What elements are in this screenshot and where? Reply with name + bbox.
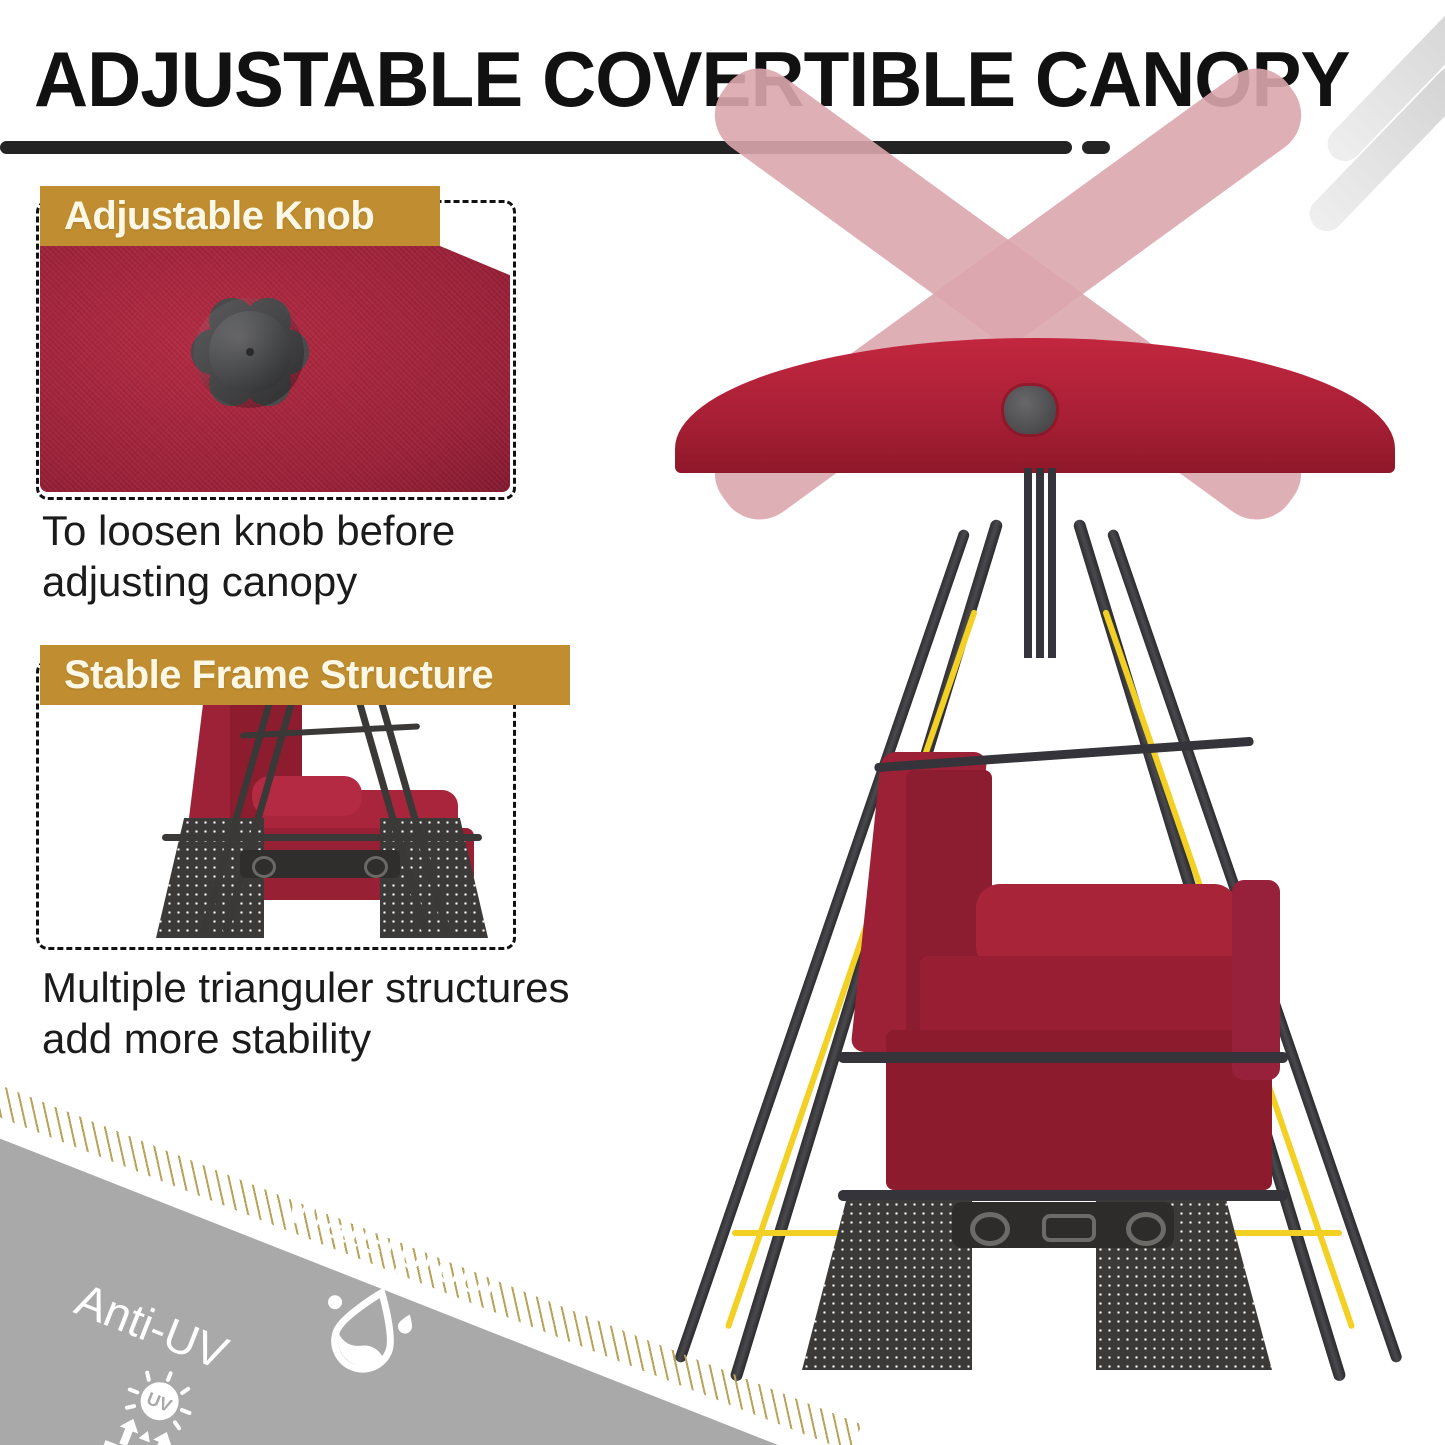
- product-photo: [620, 190, 1440, 1430]
- adjustable-knob-icon: [190, 292, 310, 412]
- canopy-knob-icon: [1004, 386, 1056, 434]
- mesh-side-panel: [802, 1200, 972, 1370]
- knob-photo: [40, 240, 510, 492]
- caption-adjustable-knob: To loosen knob before adjusting canopy: [42, 505, 562, 607]
- banner-stable-frame: Stable Frame Structure: [40, 645, 570, 705]
- caption-stable-frame: Multiple trianguler structures add more …: [42, 962, 642, 1064]
- page-title: ADJUSTABLE COVERTIBLE CANOPY: [34, 34, 1330, 125]
- title-rule-dash: [1082, 141, 1110, 154]
- banner-adjustable-knob: Adjustable Knob: [40, 186, 440, 246]
- armrest-cushion: [1232, 880, 1280, 1080]
- frame-structure-photo: [44, 668, 506, 942]
- title-rule: [0, 141, 1072, 154]
- infographic-canvas: ADJUSTABLE COVERTIBLE CANOPY Adjustable …: [0, 0, 1445, 1445]
